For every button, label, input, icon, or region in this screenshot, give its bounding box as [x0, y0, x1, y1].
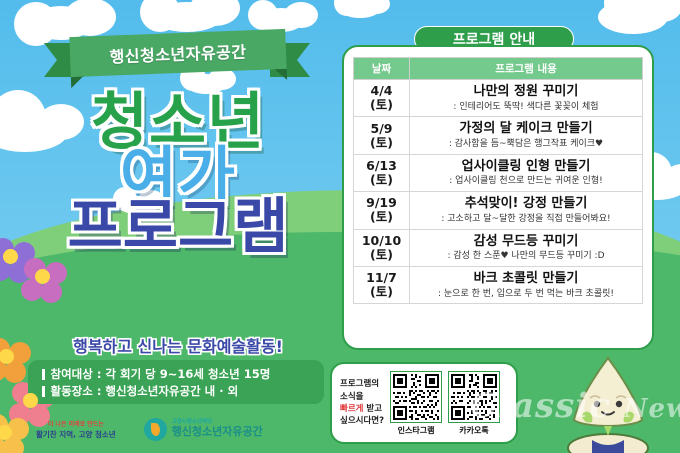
- ribbon-body: 행신청소년자유공간: [69, 29, 286, 77]
- program-description: : 업사이클링 천으로 만드는 귀여운 인형!: [410, 176, 642, 187]
- info-box: 참여대상 : 각 회기 당 9~16세 청소년 15명 활동장소 : 행신청소년…: [28, 360, 324, 404]
- cloud-icon: [340, 0, 380, 18]
- table-row: 10/10(토)감성 무드등 꾸미기: 감성 한 스푼♥ 나만의 무드등 꾸미기…: [354, 229, 643, 266]
- program-table-body: 4/4(토)나만의 정원 꾸미기: 인테리어도 뚝딱! 색다른 꽃꽂이 체험5/…: [354, 80, 643, 304]
- qr-kakaotalk[interactable]: 카카오톡: [448, 371, 500, 436]
- qr-instagram-label: 인스타그램: [398, 425, 435, 436]
- program-title: 나만의 정원 꾸미기: [410, 84, 642, 100]
- info-line-location: 활동장소 : 행신청소년자유공간 내 · 외: [42, 383, 324, 400]
- cell-content: 바크 초콜릿 만들기: 눈으로 한 번, 입으로 두 번 먹는 바크 초콜릿!: [410, 266, 643, 303]
- title-line-3: 프로그램: [22, 199, 334, 257]
- qr-prompt-line2: 소식을: [340, 391, 384, 403]
- cell-content: 나만의 정원 꾸미기: 인테리어도 뚝딱! 색다른 꽃꽂이 체험: [410, 80, 643, 117]
- program-description: : 감성 한 스푼♥ 나만의 무드등 꾸미기 :D: [410, 251, 642, 262]
- program-title: 바크 초콜릿 만들기: [410, 271, 642, 287]
- program-description: : 눈으로 한 번, 입으로 두 번 먹는 바크 초콜릿!: [410, 289, 642, 300]
- tagline: 행복하고 신나는 문화예술활동!: [22, 333, 334, 357]
- cell-date-weekday: (토): [354, 248, 409, 262]
- logo-a-line2: 활기찬 지역, 고양 청소년: [36, 429, 116, 440]
- qr-kakaotalk-label: 카카오톡: [459, 425, 488, 436]
- bullet-bar-icon: [42, 386, 45, 397]
- program-description: : 감사함을 듬~뿍담은 행그작표 케이크♥: [410, 139, 642, 150]
- program-table: 날짜 프로그램 내용 4/4(토)나만의 정원 꾸미기: 인테리어도 뚝딱! 색…: [353, 57, 643, 304]
- qr-prompt-text: 프로그램의 소식을 빠르게 받고 싶으시다면?: [340, 378, 384, 427]
- cell-date-number: 10/10: [354, 234, 409, 248]
- header-date: 날짜: [354, 58, 410, 80]
- cell-date-weekday: (토): [354, 136, 409, 150]
- qr-prompt-line4: 싶으시다면?: [340, 415, 384, 427]
- cell-date: 9/19(토): [354, 192, 410, 229]
- cell-date: 10/10(토): [354, 229, 410, 266]
- cell-date: 5/9(토): [354, 117, 410, 154]
- qr-code-instagram-icon[interactable]: [390, 371, 442, 423]
- poster-root: 행신청소년자유공간 청소년 여가 프로그램 행복하고 신나는 문화예술활동! 참…: [0, 0, 680, 453]
- page-title: 청소년 여가 프로그램: [22, 92, 334, 257]
- logo-goyang-youth: 더 나은 미래로 만드는 활기찬 지역, 고양 청소년: [36, 419, 116, 440]
- qr-prompt-line3-rest: 받고: [363, 404, 382, 414]
- info-target-text: 참여대상 : 각 회기 당 9~16세 청소년 15명: [51, 366, 271, 383]
- program-title: 업사이클링 인형 만들기: [410, 159, 642, 175]
- cell-date: 11/7(토): [354, 266, 410, 303]
- logo-a-line1: 더 나은 미래로 만드는: [48, 419, 104, 428]
- cell-date: 6/13(토): [354, 154, 410, 191]
- cell-date-number: 11/7: [354, 271, 409, 285]
- table-row: 6/13(토)업사이클링 인형 만들기: 업사이클링 천으로 만드는 귀여운 인…: [354, 154, 643, 191]
- program-title: 감성 무드등 꾸미기: [410, 234, 642, 250]
- program-description: : 인테리어도 뚝딱! 색다른 꽃꽂이 체험: [410, 102, 642, 113]
- cell-date-number: 5/9: [354, 122, 409, 136]
- cell-content: 감성 무드등 꾸미기: 감성 한 스푼♥ 나만의 무드등 꾸미기 :D: [410, 229, 643, 266]
- cloud-icon: [598, 0, 668, 34]
- header-content: 프로그램 내용: [410, 58, 643, 80]
- logo-b-line2: 행신청소년자유공간: [172, 426, 263, 438]
- program-title: 추석맞이! 강정 만들기: [410, 196, 642, 212]
- logo-haengsin-space: 고양시청소년재단 행신청소년자유공간: [144, 418, 263, 441]
- cell-date: 4/4(토): [354, 80, 410, 117]
- bullet-bar-icon: [42, 369, 45, 380]
- logo-row: 더 나은 미래로 만드는 활기찬 지역, 고양 청소년 고양시청소년재단 행신청…: [36, 412, 326, 446]
- cell-date-number: 4/4: [354, 84, 409, 98]
- mascot-character: [548, 352, 668, 453]
- qr-prompt-highlight: 빠르게: [340, 404, 363, 414]
- info-location-text: 활동장소 : 행신청소년자유공간 내 · 외: [51, 383, 239, 400]
- cell-date-weekday: (토): [354, 285, 409, 299]
- cell-content: 업사이클링 인형 만들기: 업사이클링 천으로 만드는 귀여운 인형!: [410, 154, 643, 191]
- cell-date-weekday: (토): [354, 210, 409, 224]
- qr-prompt-line1: 프로그램의: [340, 378, 384, 390]
- qr-promo-box: 프로그램의 소식을 빠르게 받고 싶으시다면?: [330, 362, 518, 444]
- table-row: 5/9(토)가정의 달 케이크 만들기: 감사함을 듬~뿍담은 행그작표 케이크…: [354, 117, 643, 154]
- qr-instagram[interactable]: 인스타그램: [390, 371, 442, 436]
- table-row: 11/7(토)바크 초콜릿 만들기: 눈으로 한 번, 입으로 두 번 먹는 바…: [354, 266, 643, 303]
- cell-date-weekday: (토): [354, 173, 409, 187]
- program-card: 날짜 프로그램 내용 4/4(토)나만의 정원 꾸미기: 인테리어도 뚝딱! 색…: [342, 45, 654, 350]
- cell-date-weekday: (토): [354, 98, 409, 112]
- table-row: 4/4(토)나만의 정원 꾸미기: 인테리어도 뚝딱! 색다른 꽃꽂이 체험: [354, 80, 643, 117]
- cell-date-number: 9/19: [354, 196, 409, 210]
- cell-content: 추석맞이! 강정 만들기: 고소하고 달~달한 강정을 직접 만들어봐요!: [410, 192, 643, 229]
- qr-prompt-line3: 빠르게 받고: [340, 403, 384, 415]
- table-header-row: 날짜 프로그램 내용: [354, 58, 643, 80]
- program-description: : 고소하고 달~달한 강정을 직접 만들어봐요!: [410, 214, 642, 225]
- cell-content: 가정의 달 케이크 만들기: 감사함을 듬~뿍담은 행그작표 케이크♥: [410, 117, 643, 154]
- foundation-mark-icon: [144, 418, 167, 441]
- table-row: 9/19(토)추석맞이! 강정 만들기: 고소하고 달~달한 강정을 직접 만들…: [354, 192, 643, 229]
- ribbon-label: 행신청소년자유공간: [109, 38, 247, 67]
- cell-date-number: 6/13: [354, 159, 409, 173]
- program-title: 가정의 달 케이크 만들기: [410, 121, 642, 137]
- qr-code-kakaotalk-icon[interactable]: [448, 371, 500, 423]
- ribbon-banner: 행신청소년자유공간: [44, 27, 310, 79]
- info-line-target: 참여대상 : 각 회기 당 9~16세 청소년 15명: [42, 366, 324, 383]
